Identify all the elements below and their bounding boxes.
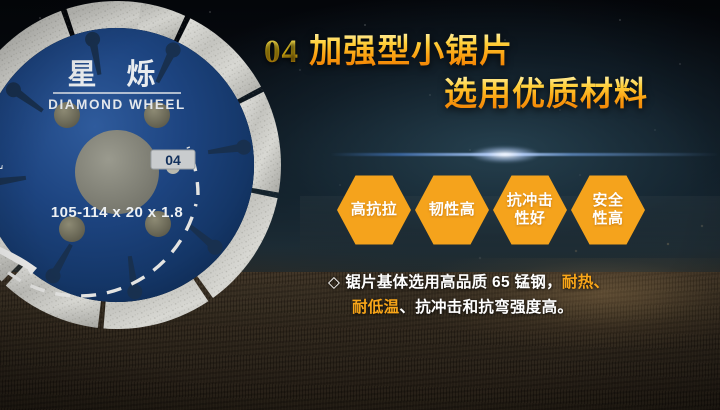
diamond-bullet-icon: ◇ bbox=[328, 274, 340, 291]
headline-line-1: 04 加强型小锯片 bbox=[250, 30, 670, 73]
headline-number: 04 bbox=[264, 34, 299, 70]
feature-badge-high-tensile: 高抗拉 bbox=[337, 174, 411, 246]
product-promo-banner: 星 烁 DIAMOND WHEEL CL 105-114 x 20 x 1.8 … bbox=[0, 0, 720, 410]
feature-badge-label: 韧性高 bbox=[429, 201, 476, 219]
product-tag-04: 04 bbox=[151, 150, 195, 169]
feature-badge-high-toughness: 韧性高 bbox=[415, 174, 489, 246]
feature-badge-impact-resistant: 抗冲击 性好 bbox=[493, 174, 567, 246]
feature-badge-label: 高抗拉 bbox=[351, 201, 398, 219]
feature-badge-label: 安全 性高 bbox=[592, 192, 623, 227]
saw-blade-product-image: 星 烁 DIAMOND WHEEL CL 105-114 x 20 x 1.8 … bbox=[0, 0, 290, 387]
product-tag-label: 04 bbox=[165, 152, 181, 168]
headline-text-1: 加强型小锯片 bbox=[309, 32, 513, 69]
description-highlight-1: 耐热、 bbox=[562, 274, 609, 291]
arbor-hole bbox=[75, 130, 159, 214]
description-highlight-2: 耐低温 bbox=[352, 299, 399, 316]
description-line-1: ◇锯片基体选用高品质 65 锰钢，耐热、 bbox=[328, 270, 700, 295]
feature-badge-label: 抗冲击 性好 bbox=[507, 192, 554, 227]
headline-block: 04 加强型小锯片 选用优质材料 bbox=[250, 30, 670, 115]
description-block: ◇锯片基体选用高品质 65 锰钢，耐热、 耐低温、抗冲击和抗弯强度高。 bbox=[328, 270, 700, 320]
feature-badge-safety: 安全 性高 bbox=[571, 174, 645, 246]
brand-name-cn: 星 烁 bbox=[67, 58, 166, 91]
product-code: CL bbox=[0, 150, 6, 174]
lens-flare-core bbox=[470, 146, 540, 163]
saw-blade-svg: 星 烁 DIAMOND WHEEL CL 105-114 x 20 x 1.8 … bbox=[0, 0, 290, 387]
feature-badge-row: 高抗拉 韧性高 抗冲击 性好 安全 性高 bbox=[337, 174, 645, 246]
headline-text-2: 选用优质材料 bbox=[444, 75, 648, 112]
description-text-part1: 锯片基体选用高品质 65 锰钢， bbox=[345, 274, 562, 291]
product-spec: 105-114 x 20 x 1.8 bbox=[51, 204, 183, 221]
brand-name-en: DIAMOND WHEEL bbox=[48, 97, 186, 112]
headline-line-2: 选用优质材料 bbox=[250, 73, 670, 115]
description-text-part2: 、抗冲击和抗弯强度高。 bbox=[399, 299, 573, 316]
description-line-2: 耐低温、抗冲击和抗弯强度高。 bbox=[328, 295, 700, 320]
